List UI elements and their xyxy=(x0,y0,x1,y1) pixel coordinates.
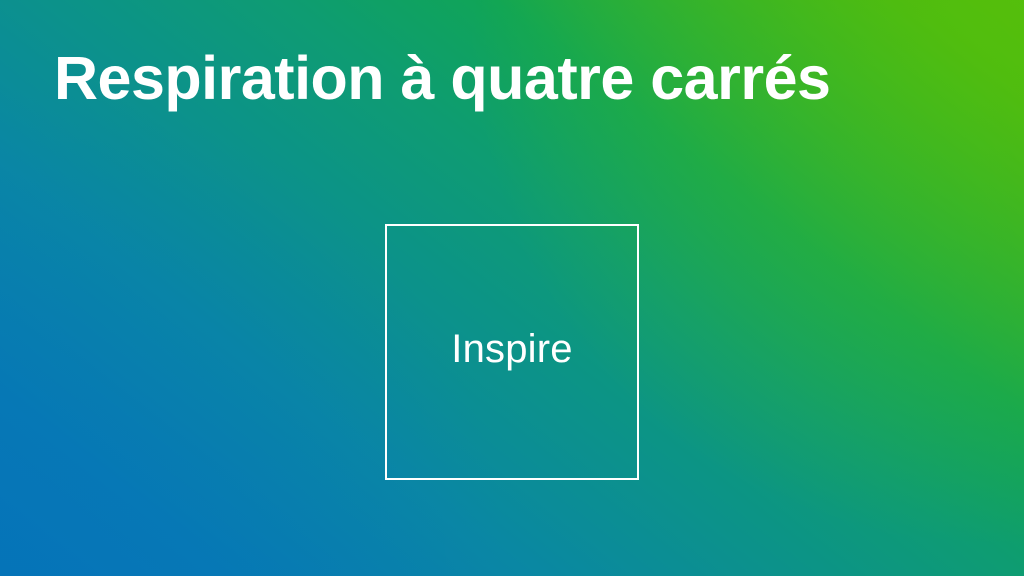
page-title: Respiration à quatre carrés xyxy=(54,46,1024,112)
slide-canvas: Respiration à quatre carrés Inspire Scho… xyxy=(0,0,1024,576)
breathing-phase-label: Inspire xyxy=(451,327,572,372)
breathing-square: Inspire xyxy=(385,224,639,480)
